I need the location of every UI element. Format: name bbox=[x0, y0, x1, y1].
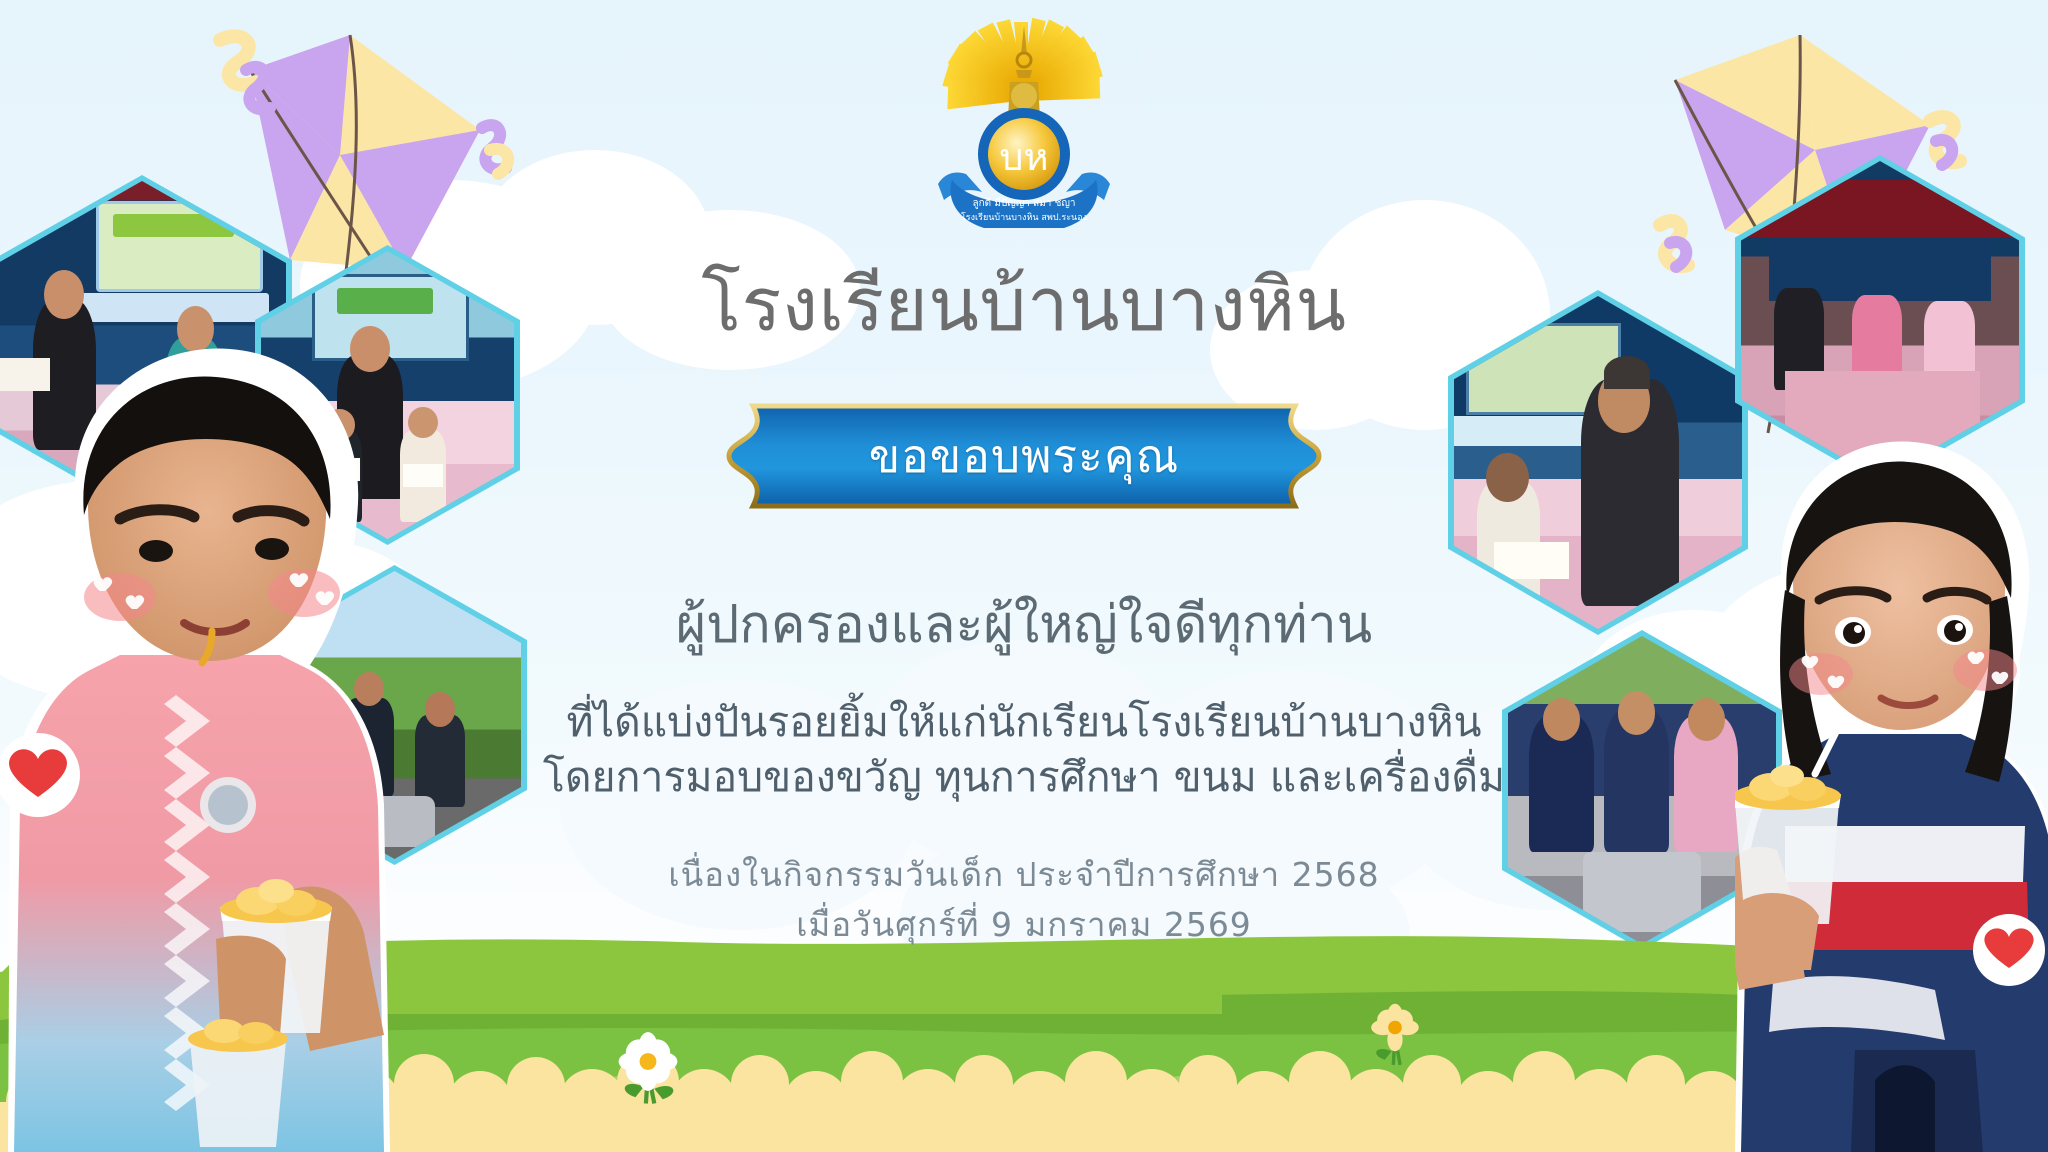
thank-you-ribbon: ขอขอบพระคุณ bbox=[723, 400, 1325, 512]
body-line-2: โดยการมอบของขวัญ ทุนการศึกษา ขนม และเครื… bbox=[543, 745, 1505, 810]
ribbon-label: ขอขอบพระคุณ bbox=[723, 400, 1325, 512]
school-emblem-logo: บห ลูกดี มีปัญญา สมา ชญา โรงเรียนบ้านบาง… bbox=[904, 14, 1144, 244]
subtitle-text: ผู้ปกครองและผู้ใหญ่ใจดีทุกท่าน bbox=[676, 582, 1372, 665]
footer-line-2: เมื่อวันศุกร์ที่ 9 มกราคม 2569 bbox=[796, 898, 1252, 951]
footer-line-1: เนื่องในกิจกรรมวันเด็ก ประจำปีการศึกษา 2… bbox=[668, 848, 1379, 901]
poster-canvas: บห ลูกดี มีปัญญา สมา ชญา โรงเรียนบ้านบาง… bbox=[0, 0, 2048, 1152]
school-name-title: โรงเรียนบ้านบางหิน bbox=[701, 268, 1346, 342]
emblem-ring-text-bottom: โรงเรียนบ้านบางหิน สพป.ระนอง bbox=[961, 212, 1087, 223]
emblem-ring-text-top: ลูกดี มีปัญญา สมา ชญา bbox=[972, 197, 1075, 209]
emblem-monogram: บห bbox=[999, 135, 1048, 179]
